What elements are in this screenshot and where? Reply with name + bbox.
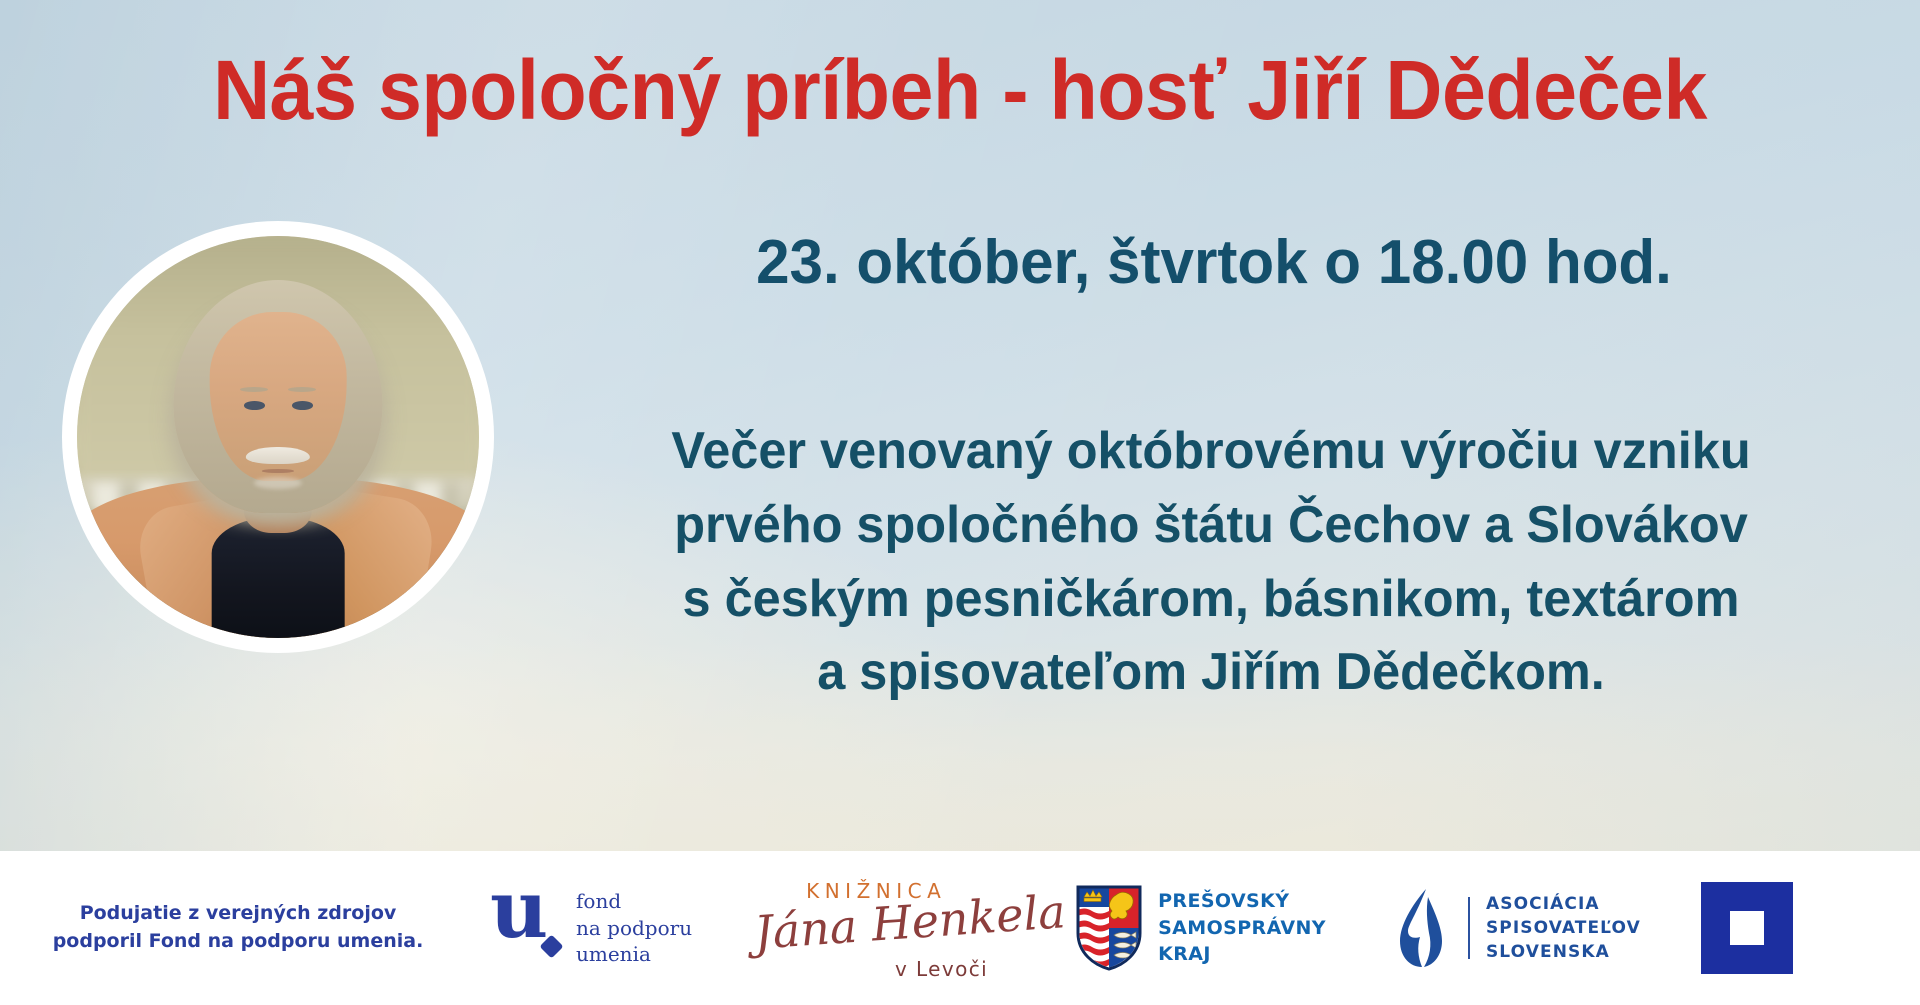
fpu-logo-text: fond na podporu umenia	[576, 888, 692, 967]
blue-square-logo	[1701, 882, 1793, 974]
portrait-chin-beard	[254, 477, 302, 489]
kniznica-jana-henkela-logo: KNIŽNICA Jána Henkela v Levoči	[754, 873, 1006, 983]
fpu-logo-line: na podporu	[576, 915, 692, 941]
funding-note-line: Podujatie z verejných zdrojov	[46, 900, 430, 928]
portrait-mustache	[246, 447, 310, 464]
portrait-eye-right	[292, 401, 313, 410]
fpu-u-mark-icon: u	[490, 897, 562, 959]
avatar	[62, 221, 494, 653]
ass-logo-divider	[1468, 897, 1470, 959]
portrait-mouth	[262, 469, 294, 473]
psk-logo-line: PREŠOVSKÝ	[1158, 888, 1326, 915]
presov-coat-of-arms-icon	[1076, 885, 1142, 971]
fpu-logo-line: umenia	[576, 941, 692, 967]
description-line: s českým pesničkárom, básnikom, textárom	[568, 563, 1854, 637]
portrait-eyebrow-right	[288, 387, 316, 392]
funding-note-line: podporil Fond na podporu umenia.	[46, 928, 430, 956]
fpu-logo: u fond na podporu umenia	[490, 888, 692, 967]
ass-logo-line: SPISOVATEĽOV	[1486, 916, 1641, 940]
event-datetime: 23. október, štvrtok o 18.00 hod.	[580, 230, 1849, 295]
description-line: prvého spoločného štátu Čechov a Slováko…	[568, 489, 1854, 563]
ass-logo-text: ASOCIÁCIA SPISOVATEĽOV SLOVENSKA	[1486, 892, 1641, 964]
asociacia-spisovatelov-slovenska-logo: ASOCIÁCIA SPISOVATEĽOV SLOVENSKA	[1396, 887, 1641, 969]
description-line: Večer venovaný októbrovému výročiu vznik…	[568, 415, 1854, 489]
description-line: a spisovateľom Jiřím Dědečkom.	[568, 636, 1854, 710]
psk-logo-line: SAMOSPRÁVNY	[1158, 915, 1326, 942]
sponsor-logo-bar: Podujatie z verejných zdrojov podporil F…	[0, 851, 1920, 1005]
portrait-eye-left	[244, 401, 265, 410]
portrait-turtleneck	[212, 517, 345, 638]
page-title: Náš spoločný príbeh - hosť Jiří Dědeček	[58, 48, 1863, 132]
kniznica-script-name: Jána Henkela	[753, 884, 1068, 960]
ass-logo-line: ASOCIÁCIA	[1486, 892, 1641, 916]
event-description: Večer venovaný októbrovému výročiu vznik…	[568, 415, 1854, 710]
event-poster: Náš spoločný príbeh - hosť Jiří Dědeček …	[0, 0, 1920, 1005]
fpu-logo-line: fond	[576, 888, 692, 914]
funding-note: Podujatie z verejných zdrojov podporil F…	[0, 900, 430, 955]
portrait-eyebrow-left	[240, 387, 268, 392]
psk-logo-line: KRAJ	[1158, 941, 1326, 968]
portrait-photo	[77, 236, 479, 638]
fpu-u-letter: u	[490, 881, 548, 937]
kniznica-wordmark-bottom: v Levoči	[895, 957, 988, 981]
ass-logo-line: SLOVENSKA	[1486, 940, 1641, 964]
ass-flame-a-icon	[1396, 887, 1452, 969]
presovsky-samospravny-kraj-logo: PREŠOVSKÝ SAMOSPRÁVNY KRAJ	[1076, 885, 1326, 971]
psk-logo-text: PREŠOVSKÝ SAMOSPRÁVNY KRAJ	[1158, 888, 1326, 969]
